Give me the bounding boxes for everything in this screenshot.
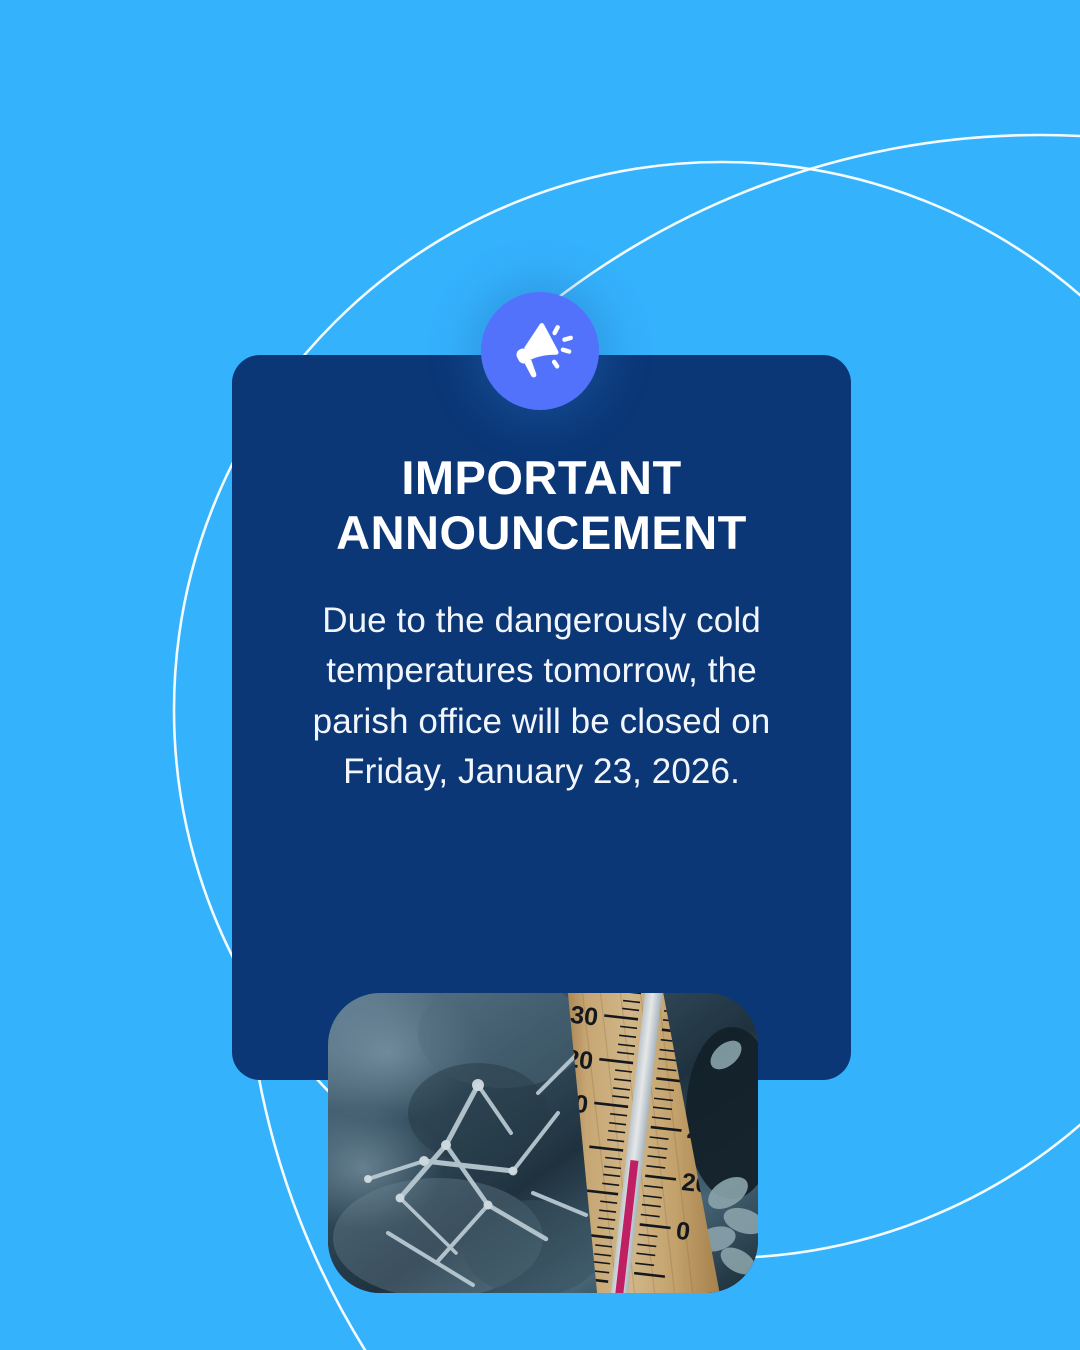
announcement-card: IMPORTANT ANNOUNCEMENT Due to the danger… (232, 355, 851, 1080)
announcement-poster: IMPORTANT ANNOUNCEMENT Due to the danger… (0, 0, 1080, 1350)
page-title: IMPORTANT ANNOUNCEMENT (274, 451, 809, 560)
frost-thermometer-illustration: 40 30 20 10 0 10 20 30 (328, 993, 758, 1293)
megaphone-badge (481, 292, 599, 410)
announcement-body-text: Due to the dangerously cold temperatures… (274, 596, 809, 798)
thermometer-photo: 40 30 20 10 0 10 20 30 (328, 993, 758, 1293)
megaphone-icon (507, 318, 573, 384)
